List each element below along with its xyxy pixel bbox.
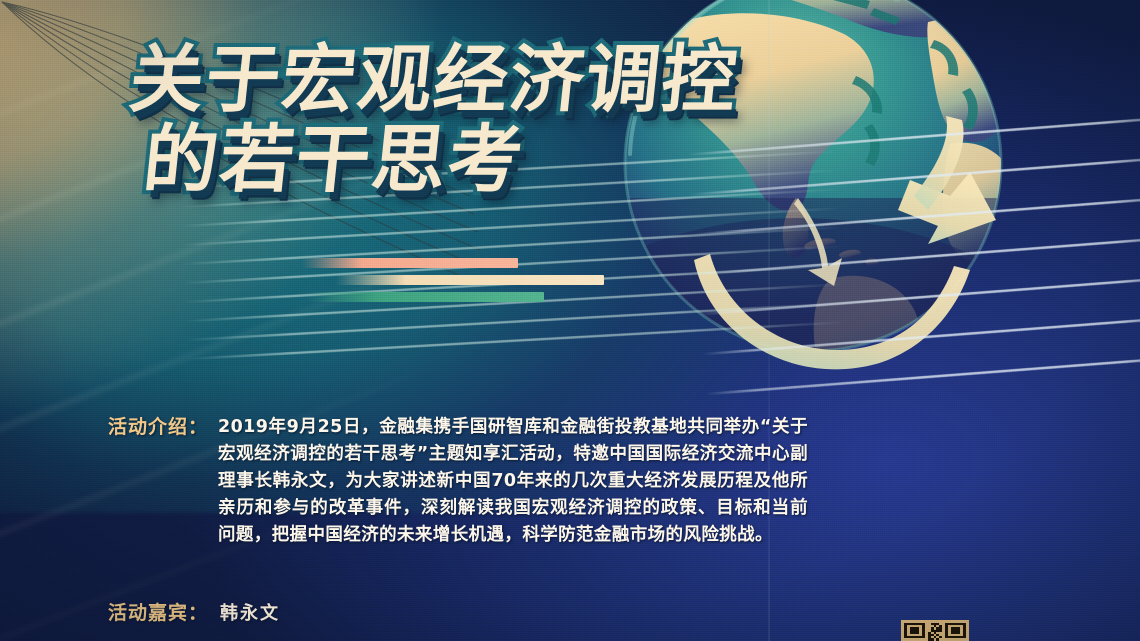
qr-code-modules [904, 623, 966, 641]
event-guest-name: 韩永文 [220, 599, 280, 625]
title-decor-bars [218, 258, 604, 309]
event-guest-label: 活动嘉宾： [108, 598, 208, 625]
salmon-bar [302, 258, 518, 268]
qr-code[interactable] [901, 620, 969, 641]
event-intro-block: 活动介绍： 2019年9月25日，金融集携手国研智库和金融街投教基地共同举办“关… [108, 414, 808, 549]
event-intro-label: 活动介绍： [108, 414, 208, 441]
event-intro-line-1: 2019年9月25日，金融集携手国研智库和金融街投教基地共同举办 [218, 417, 760, 437]
green-bar [306, 292, 544, 302]
poster-title: 关于宏观经济调控 的若干思考 [130, 38, 910, 202]
event-intro-row: 活动介绍： 2019年9月25日，金融集携手国研智库和金融街投教基地共同举办“关… [108, 414, 808, 549]
poster-title-line-2: 的若干思考 [140, 118, 915, 202]
event-guest-block: 活动嘉宾： 韩永文 [108, 598, 280, 625]
event-intro-text: 2019年9月25日，金融集携手国研智库和金融街投教基地共同举办“关于宏观经济调… [218, 414, 808, 549]
poster-title-line-1: 关于宏观经济调控 [126, 38, 915, 122]
poster-canvas: 关于宏观经济调控 的若干思考 活动介绍： 2019年9月25日，金融集携手国研智… [0, 0, 1140, 641]
cream-bar [336, 275, 604, 285]
